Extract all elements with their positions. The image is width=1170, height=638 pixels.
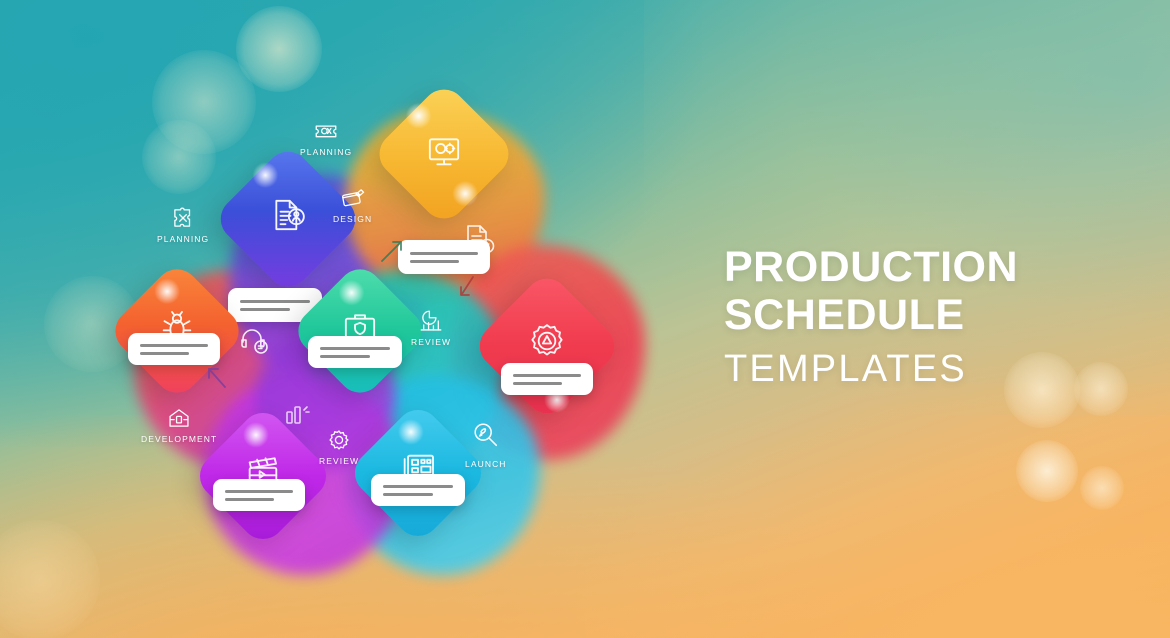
- tag-launch[interactable]: LAUNCH: [465, 420, 507, 469]
- node-cyan-content: [367, 422, 469, 524]
- chart-pie-bar-icon: [418, 308, 444, 334]
- node-purple-content: [212, 425, 314, 527]
- page-subtitle: TEMPLATES: [724, 345, 1124, 394]
- node-orange-card: [128, 333, 220, 365]
- quality-badge-icon: [527, 321, 567, 361]
- background-tint-amber-right: [585, 383, 1170, 638]
- bar-chart-mini-icon: [284, 403, 310, 427]
- tag-label: PLANNING: [157, 234, 209, 244]
- magnifier-rocket-icon: [471, 420, 501, 450]
- card-text-line: [383, 485, 453, 488]
- node-yellow-content: [392, 102, 496, 206]
- node-purple-card: [213, 479, 305, 511]
- infographic: PLANNING PLANNING DESIGN: [95, 75, 655, 565]
- tag-review-chart[interactable]: REVIEW: [411, 308, 451, 347]
- building-icon: [166, 405, 192, 431]
- card-text-line: [320, 355, 370, 358]
- page-title-line-2: SCHEDULE: [724, 291, 1124, 339]
- puzzle-icon: [170, 205, 196, 231]
- node-red-card: [501, 363, 593, 395]
- node-cyan-card: [371, 474, 465, 506]
- tag-label: DEVELOPMENT: [141, 434, 217, 444]
- tag-development[interactable]: DEVELOPMENT: [141, 405, 217, 444]
- card-text-line: [140, 352, 189, 355]
- flow-arrow-up-right: [376, 235, 408, 267]
- tag-planning-ticket[interactable]: PLANNING: [300, 118, 352, 157]
- card-text-line: [513, 374, 581, 377]
- gear-icon: [326, 427, 352, 453]
- flow-arrow-down: [455, 273, 481, 299]
- presentation-settings-icon: [424, 131, 464, 171]
- page-title-line-1: PRODUCTION: [724, 243, 1124, 291]
- card-text-line: [410, 260, 459, 263]
- tag-label: REVIEW: [319, 456, 359, 466]
- title-block: PRODUCTION SCHEDULE TEMPLATES: [724, 243, 1124, 395]
- node-green-card: [308, 336, 402, 368]
- flow-arrow-up-left: [203, 363, 231, 391]
- card-text-line: [320, 347, 390, 350]
- card-text-line: [383, 493, 433, 496]
- card-text-line: [140, 344, 208, 347]
- tag-label: LAUNCH: [465, 459, 507, 469]
- document-dollar-icon: [464, 223, 496, 257]
- node-blue-content: [234, 165, 342, 273]
- tag-label: REVIEW: [411, 337, 451, 347]
- ticket-icon: [313, 118, 339, 144]
- document-person-icon: [268, 195, 308, 235]
- card-text-line: [240, 300, 310, 303]
- design-card-icon: [340, 185, 366, 211]
- tag-planning-puzzle[interactable]: PLANNING: [157, 205, 209, 244]
- tag-label: PLANNING: [300, 147, 352, 157]
- card-text-line: [225, 498, 274, 501]
- tag-design[interactable]: DESIGN: [333, 185, 372, 224]
- card-text-line: [225, 490, 293, 493]
- tag-label: DESIGN: [333, 214, 372, 224]
- card-text-line: [513, 382, 562, 385]
- headset-chat-icon: [238, 325, 270, 355]
- tag-review-gear[interactable]: REVIEW: [319, 427, 359, 466]
- card-text-line: [240, 308, 290, 311]
